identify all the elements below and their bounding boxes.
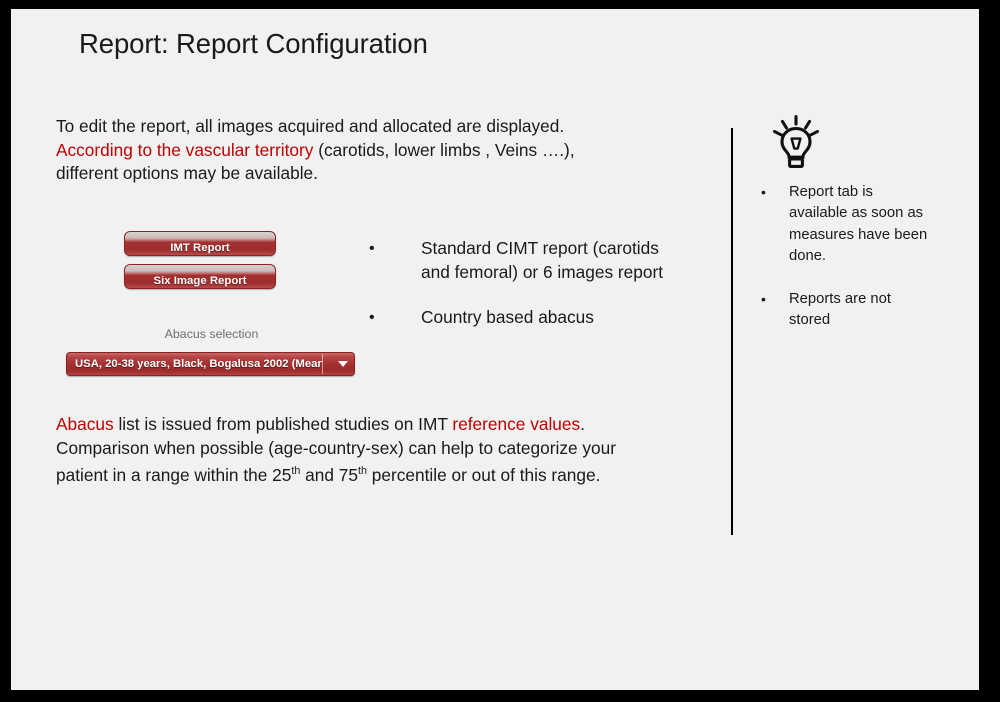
feature-bullet-list: • Standard CIMT report (carotids and fem… [369,237,684,352]
closing-highlight-reference-values: reference values [452,414,580,434]
list-item-label: Country based abacus [421,306,684,330]
list-item-label: Standard CIMT report (carotids and femor… [421,237,684,284]
list-item-label: Report tab is available as soon as measu… [789,182,931,268]
closing-part-1: list is issued from published studies on… [114,414,453,434]
closing-superscript-2: th [358,465,367,477]
report-button-group: IMT Report Six Image Report [124,231,279,297]
closing-part-4: percentile or out of this range. [367,465,600,485]
closing-paragraph: Abacus list is issued from published stu… [56,413,666,488]
bullet-marker: • [761,289,789,332]
lightbulb-icon [773,115,819,169]
closing-superscript-1: th [291,465,300,477]
vertical-divider [731,128,733,535]
bullet-marker: • [761,182,789,268]
list-item-label: Reports are not stored [789,289,931,332]
bullet-marker: • [369,237,421,284]
page-title: Report: Report Configuration [79,28,428,60]
bullet-marker: • [369,306,421,330]
list-item: • Country based abacus [369,306,684,330]
imt-report-button[interactable]: IMT Report [124,231,276,256]
intro-line-3: different options may be available. [56,162,646,186]
list-item: • Report tab is available as soon as mea… [761,182,931,268]
closing-highlight-abacus: Abacus [56,414,114,434]
six-image-report-button[interactable]: Six Image Report [124,264,276,289]
slide-frame: Report: Report Configuration To edit the… [0,0,1000,702]
chevron-down-icon[interactable] [332,353,354,375]
abacus-selection-label: Abacus selection [124,327,299,341]
intro-line-2-rest: (carotids, lower limbs , Veins ….), [313,140,574,160]
closing-part-3: and 75 [300,465,358,485]
imt-report-button-label: IMT Report [125,236,275,261]
abacus-selected-value: USA, 20-38 years, Black, Bogalusa 2002 (… [67,358,322,370]
six-image-report-button-label: Six Image Report [125,269,275,294]
abacus-selection-dropdown[interactable]: USA, 20-38 years, Black, Bogalusa 2002 (… [66,352,355,376]
tips-list: • Report tab is available as soon as mea… [761,182,931,352]
list-item: • Standard CIMT report (carotids and fem… [369,237,684,284]
list-item: • Reports are not stored [761,289,931,332]
intro-line-2: According to the vascular territory (car… [56,139,646,163]
intro-paragraph: To edit the report, all images acquired … [56,115,646,186]
dropdown-separator [322,354,323,374]
intro-line-2-highlight: According to the vascular territory [56,140,313,160]
slide-canvas: Report: Report Configuration To edit the… [11,9,979,690]
intro-line-1: To edit the report, all images acquired … [56,115,646,139]
